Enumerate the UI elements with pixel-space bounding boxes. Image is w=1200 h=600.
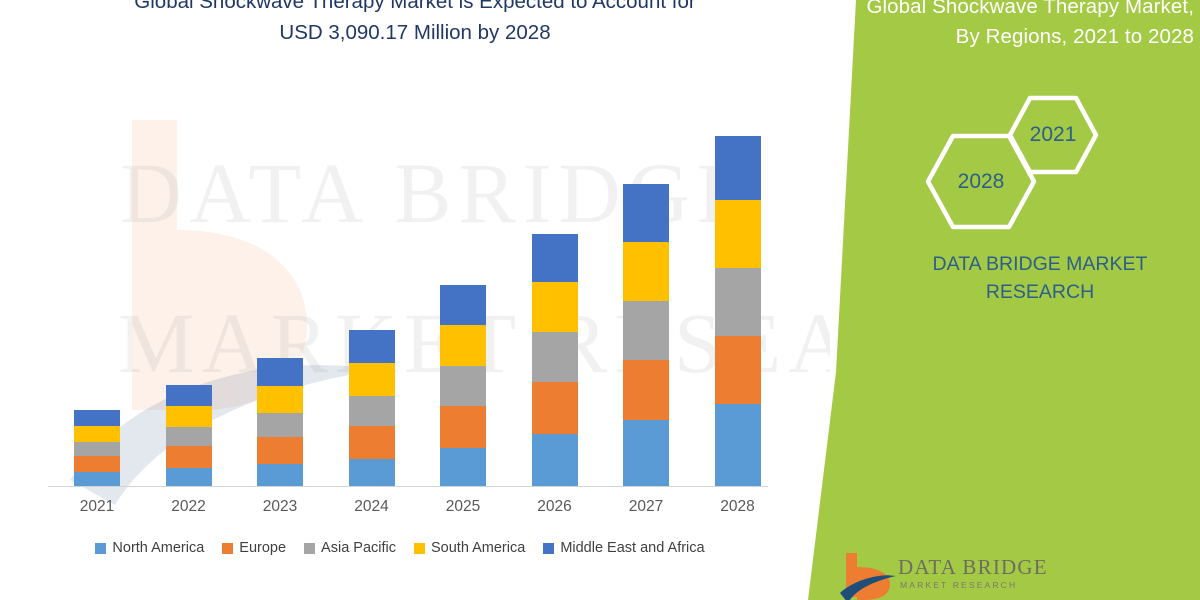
bar-segment-asia-pacific bbox=[166, 427, 212, 446]
bar-segment-asia-pacific bbox=[532, 332, 578, 382]
bar-segment-middle-east-and-africa bbox=[715, 136, 761, 200]
bar-segment-middle-east-and-africa bbox=[440, 285, 486, 325]
bar-segment-europe bbox=[166, 446, 212, 468]
bar-segment-europe bbox=[715, 336, 761, 404]
bar-segment-europe bbox=[440, 406, 486, 448]
bar-column-2025 bbox=[440, 285, 486, 486]
bar-segment-north-america bbox=[715, 404, 761, 486]
bar-column-2024 bbox=[349, 330, 395, 486]
side-panel-heading-line1: Global Shockwave Therapy Market, bbox=[816, 0, 1194, 22]
x-axis-tick-2023: 2023 bbox=[235, 498, 325, 516]
logo-subtext: MARKET RESEARCH bbox=[900, 580, 1017, 590]
bar-column-2021 bbox=[74, 410, 120, 486]
side-panel-heading-line2: By Regions, 2021 to 2028 bbox=[816, 22, 1194, 52]
bar-segment-middle-east-and-africa bbox=[74, 410, 120, 426]
x-axis-tick-2028: 2028 bbox=[693, 498, 783, 516]
legend-item-europe[interactable]: Europe bbox=[222, 540, 286, 556]
brand-name-line1: DATA BRIDGE MARKET bbox=[900, 250, 1180, 278]
bar-segment-europe bbox=[532, 382, 578, 434]
bar-segment-north-america bbox=[74, 472, 120, 486]
legend-label: Middle East and Africa bbox=[560, 540, 704, 556]
bar-segment-north-america bbox=[532, 434, 578, 486]
bar-column-2027 bbox=[623, 184, 669, 486]
bar-segment-south-america bbox=[166, 406, 212, 427]
x-axis-tick-2021: 2021 bbox=[52, 498, 142, 516]
company-logo: DATA BRIDGE MARKET RESEARCH bbox=[840, 553, 1170, 600]
bar-segment-middle-east-and-africa bbox=[349, 330, 395, 363]
bar-segment-south-america bbox=[349, 363, 395, 396]
bar-segment-middle-east-and-africa bbox=[166, 385, 212, 406]
hex-badge-2021-label: 2021 bbox=[1007, 95, 1099, 175]
bar-segment-middle-east-and-africa bbox=[532, 234, 578, 282]
legend-item-north-america[interactable]: North America bbox=[95, 540, 204, 556]
x-axis-tick-2027: 2027 bbox=[601, 498, 691, 516]
legend-label: Europe bbox=[239, 540, 286, 556]
bar-segment-asia-pacific bbox=[440, 366, 486, 406]
bar-segment-asia-pacific bbox=[623, 301, 669, 360]
logo-text: DATA BRIDGE bbox=[898, 555, 1048, 580]
bar-segment-middle-east-and-africa bbox=[257, 358, 303, 386]
legend-swatch-icon bbox=[95, 543, 106, 554]
bar-segment-middle-east-and-africa bbox=[623, 184, 669, 242]
bar-segment-europe bbox=[349, 426, 395, 459]
bar-segment-north-america bbox=[623, 420, 669, 486]
legend-swatch-icon bbox=[304, 543, 315, 554]
x-axis-tick-2026: 2026 bbox=[510, 498, 600, 516]
side-panel-heading: Global Shockwave Therapy Market, By Regi… bbox=[816, 0, 1194, 52]
chart-panel: DATA BRIDGE MARKET RESEARCH Global Shock… bbox=[0, 0, 830, 600]
chart-legend: North AmericaEuropeAsia PacificSouth Ame… bbox=[0, 540, 800, 556]
legend-item-south-america[interactable]: South America bbox=[414, 540, 525, 556]
bar-column-2022 bbox=[166, 385, 212, 486]
bar-column-2028 bbox=[715, 136, 761, 486]
bar-segment-europe bbox=[623, 360, 669, 420]
stacked-bar-chart: 20212022202320242025202620272028 bbox=[0, 0, 830, 600]
legend-swatch-icon bbox=[414, 543, 425, 554]
legend-label: North America bbox=[112, 540, 204, 556]
bar-segment-north-america bbox=[440, 448, 486, 486]
bar-segment-north-america bbox=[257, 464, 303, 486]
x-axis-line bbox=[48, 486, 768, 487]
bar-column-2026 bbox=[532, 234, 578, 486]
bar-segment-europe bbox=[74, 456, 120, 472]
bar-segment-asia-pacific bbox=[257, 413, 303, 437]
legend-label: Asia Pacific bbox=[321, 540, 396, 556]
legend-label: South America bbox=[431, 540, 525, 556]
legend-item-middle-east-and-africa[interactable]: Middle East and Africa bbox=[543, 540, 704, 556]
hex-badge-group: 2028 2021 bbox=[925, 95, 1115, 230]
x-axis-tick-2025: 2025 bbox=[418, 498, 508, 516]
bar-segment-asia-pacific bbox=[74, 442, 120, 456]
legend-swatch-icon bbox=[543, 543, 554, 554]
bar-column-2023 bbox=[257, 358, 303, 486]
bar-segment-south-america bbox=[623, 242, 669, 301]
bar-segment-north-america bbox=[166, 468, 212, 486]
bar-segment-asia-pacific bbox=[349, 396, 395, 426]
bar-segment-north-america bbox=[349, 459, 395, 486]
brand-name-line2: RESEARCH bbox=[900, 278, 1180, 306]
bar-segment-south-america bbox=[257, 386, 303, 413]
infographic-canvas: DATA BRIDGE MARKET RESEARCH Global Shock… bbox=[0, 0, 1200, 600]
bar-segment-south-america bbox=[532, 282, 578, 332]
bar-segment-south-america bbox=[715, 200, 761, 268]
bar-segment-south-america bbox=[440, 325, 486, 366]
x-axis-tick-2024: 2024 bbox=[327, 498, 417, 516]
x-axis-tick-2022: 2022 bbox=[144, 498, 234, 516]
bar-segment-south-america bbox=[74, 426, 120, 442]
brand-name: DATA BRIDGE MARKET RESEARCH bbox=[900, 250, 1180, 306]
hex-badge-2021: 2021 bbox=[1007, 95, 1099, 175]
legend-item-asia-pacific[interactable]: Asia Pacific bbox=[304, 540, 396, 556]
bar-segment-europe bbox=[257, 437, 303, 464]
legend-swatch-icon bbox=[222, 543, 233, 554]
bar-segment-asia-pacific bbox=[715, 268, 761, 336]
logo-b-mark-icon bbox=[840, 553, 896, 600]
